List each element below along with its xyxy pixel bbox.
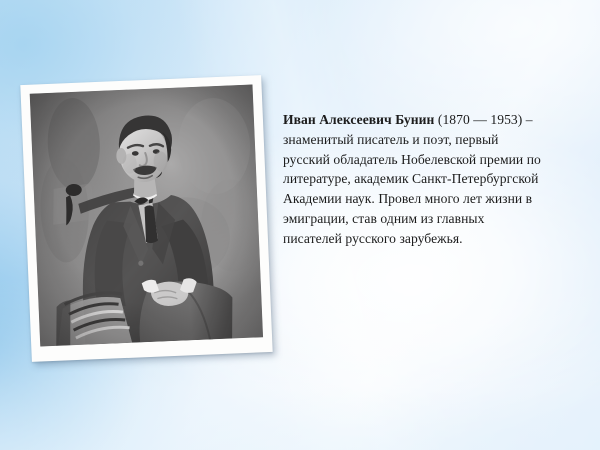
person-name: Иван Алексеевич Бунин bbox=[283, 112, 434, 127]
portrait-photo-image bbox=[30, 84, 263, 346]
biography-rest-text: (1870 — 1953) – знаменитый писатель и по… bbox=[283, 112, 541, 246]
portrait-illustration bbox=[30, 84, 263, 346]
portrait-photo-frame bbox=[20, 75, 272, 362]
slide-canvas: Иван Алексеевич Бунин (1870 — 1953) – зн… bbox=[0, 0, 600, 450]
biography-paragraph: Иван Алексеевич Бунин (1870 — 1953) – зн… bbox=[283, 110, 545, 249]
